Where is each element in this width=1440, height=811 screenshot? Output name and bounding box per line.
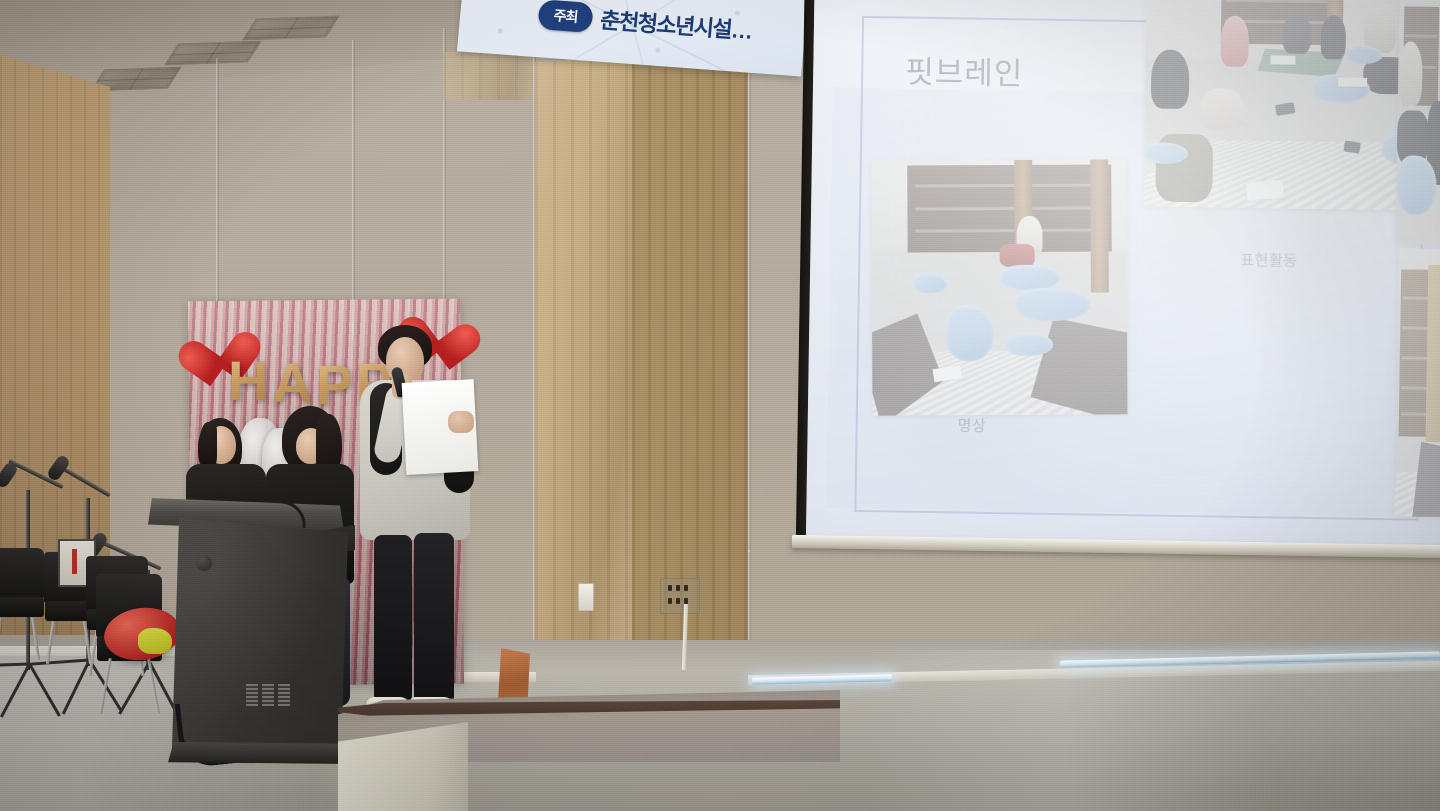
screenshot-root: 주최 춘천청소년시설… 핏브레인 <box>0 0 1440 811</box>
balloon-letter-a: A <box>272 350 309 415</box>
slide-label-expression: 표현활동 <box>1240 249 1298 271</box>
photo2-paper-3 <box>1338 77 1366 87</box>
expression-activity-photo <box>1143 0 1440 211</box>
chair-2-leg-a <box>46 621 55 664</box>
projection-screen: 핏브레인 <box>796 0 1440 572</box>
wood-panel-narrow <box>443 52 533 100</box>
photo2-blanket-2 <box>1345 45 1383 64</box>
balloon-letter-h: H <box>228 348 265 413</box>
wall-power-outlet[interactable] <box>660 578 700 614</box>
wall-seam-2 <box>352 40 355 340</box>
photo2-paper-2 <box>1270 56 1295 66</box>
photo-shelving <box>907 165 1111 253</box>
bookshelf-photo-lower-right <box>1394 248 1440 517</box>
lectern-vent-2 <box>262 684 274 706</box>
wall-seam-6 <box>748 10 751 680</box>
chair-4-leg-b <box>147 658 160 714</box>
photo-wood-post-2 <box>1090 159 1109 292</box>
photo-person-red-pants <box>999 244 1035 267</box>
slide-title: 핏브레인 <box>905 47 1024 94</box>
wall-switch-plate[interactable] <box>578 583 594 611</box>
presenter-speaking-leg-right <box>414 533 454 709</box>
meditation-photo <box>871 159 1127 415</box>
chair-1 <box>0 548 44 660</box>
photo-blanket-2 <box>1015 287 1092 321</box>
lectern-base <box>168 742 358 764</box>
photo2-person-5 <box>1151 49 1189 109</box>
photo4-wood-door <box>1426 265 1440 442</box>
chair-1-leg-b <box>31 617 40 660</box>
photo2-paper-1 <box>1246 179 1285 200</box>
stage-platform <box>338 690 840 811</box>
presenter-left-hair-front <box>199 422 217 470</box>
yellow-object-floor <box>138 628 172 654</box>
screen-surface: 핏브레인 <box>806 0 1440 550</box>
photo-blanket-1 <box>999 264 1060 290</box>
ceiling-vent-2 <box>164 41 262 66</box>
photo2-person-6 <box>1201 89 1245 131</box>
chair-1-seat <box>0 597 44 617</box>
balloon-letter-p1: P <box>316 352 350 417</box>
photo2-person-3 <box>1320 15 1346 59</box>
photo2-blanket-4 <box>1144 142 1188 163</box>
lectern-knob[interactable] <box>196 555 212 571</box>
banner-host-chip: 주최 <box>537 0 594 33</box>
photo-blanket-5 <box>913 273 949 294</box>
presenter-speaking-hand-paper <box>448 411 474 433</box>
lectern-vent-3 <box>278 684 290 706</box>
photo3-person-1 <box>1398 41 1423 106</box>
slide-label-meditation: 명상 <box>958 414 987 435</box>
photo2-person-1 <box>1220 16 1249 67</box>
photo3-blanket <box>1396 155 1437 215</box>
chair-1-leg-a <box>0 617 2 660</box>
bookshelf-photo-right <box>1396 0 1440 245</box>
photo2-phone-2 <box>1343 140 1360 154</box>
photo4-shelving <box>1399 270 1429 437</box>
chair-1-back <box>0 548 44 600</box>
ceiling-vent-3 <box>242 16 340 41</box>
chair-4-leg-a <box>99 658 112 714</box>
presenter-speaking-leg-left <box>374 535 412 707</box>
photo2-person-2 <box>1283 12 1312 53</box>
photo-blanket-3 <box>946 305 995 361</box>
